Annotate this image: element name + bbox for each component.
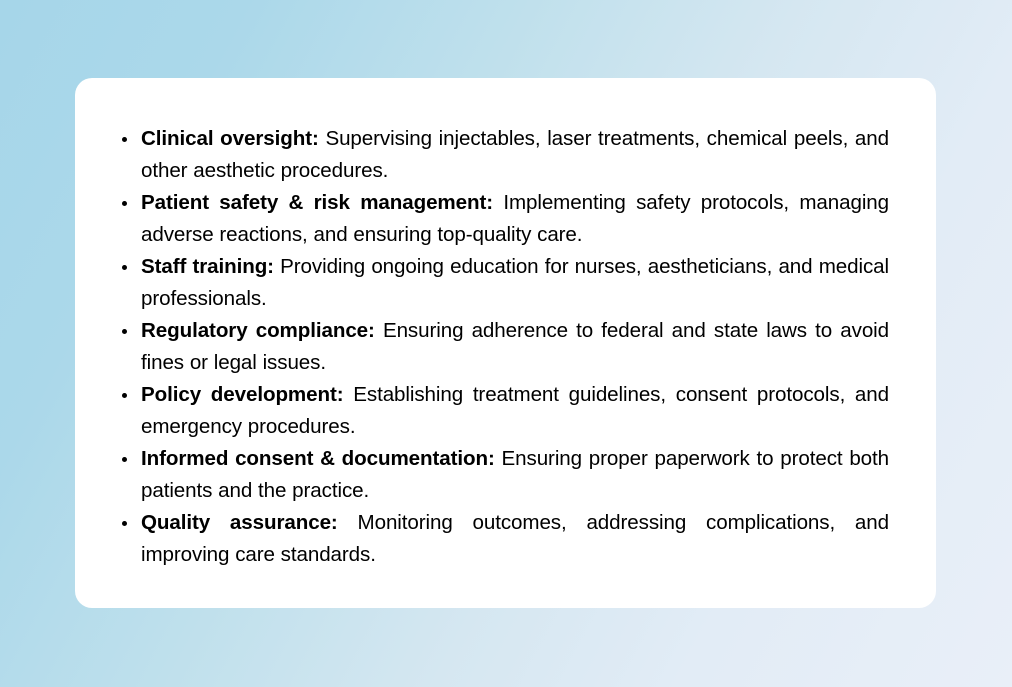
list-item-label: Staff training: [141,255,274,278]
list-item: Regulatory compliance: Ensuring adherenc… [122,315,889,379]
list-item: Clinical oversight: Supervising injectab… [122,123,889,187]
list-item: Policy development: Establishing treatme… [122,379,889,443]
responsibilities-list: Clinical oversight: Supervising injectab… [122,123,889,571]
list-item: Staff training: Providing ongoing educat… [122,251,889,315]
list-item: Quality assurance: Monitoring outcomes, … [122,507,889,571]
list-item-label: Informed consent & documentation: [141,447,495,470]
list-item-label: Policy development: [141,383,343,406]
list-item-label: Quality assurance: [141,511,338,534]
list-item: Informed consent & documentation: Ensuri… [122,443,889,507]
list-item: Patient safety & risk management: Implem… [122,187,889,251]
list-item-label: Regulatory compliance: [141,319,375,342]
content-card: Clinical oversight: Supervising injectab… [75,78,936,608]
list-item-label: Clinical oversight: [141,127,319,150]
list-item-label: Patient safety & risk management: [141,191,493,214]
